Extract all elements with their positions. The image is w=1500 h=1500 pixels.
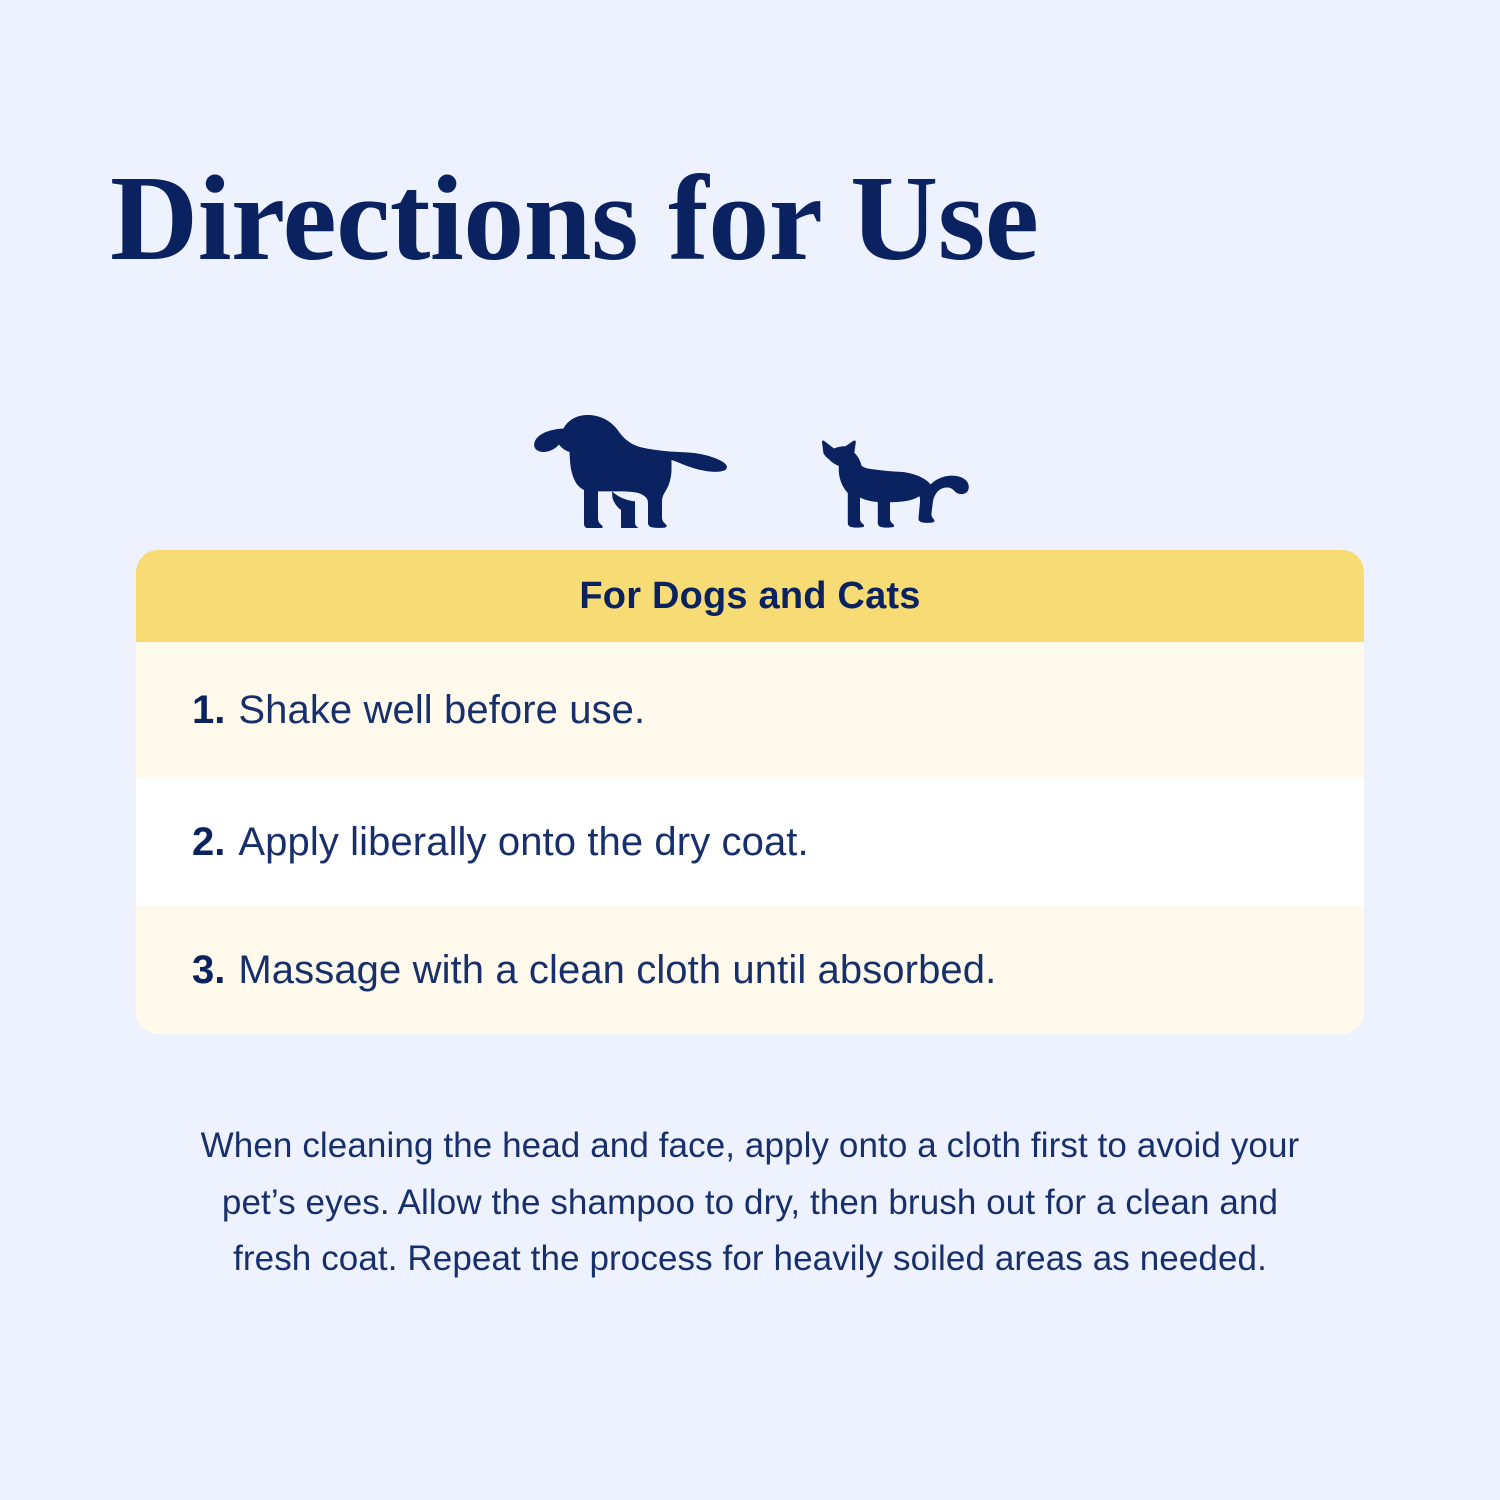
page-title: Directions for Use	[110, 158, 1390, 280]
pet-silhouettes	[0, 388, 1500, 528]
directions-card: For Dogs and Cats 1. Shake well before u…	[136, 550, 1364, 1034]
directions-for-use-panel: Directions for Use For Dogs and Cats 1. …	[0, 0, 1500, 1500]
card-banner: For Dogs and Cats	[136, 550, 1364, 642]
step-row-2: 2. Apply liberally onto the dry coat.	[136, 778, 1364, 906]
step-row-1: 1. Shake well before use.	[136, 642, 1364, 778]
step-text-1: Shake well before use.	[238, 688, 645, 733]
card-banner-label: For Dogs and Cats	[579, 575, 920, 618]
step-row-3: 3. Massage with a clean cloth until abso…	[136, 906, 1364, 1034]
step-number-1: 1.	[192, 688, 225, 733]
cat-silhouette-icon	[806, 440, 969, 528]
step-text-3: Massage with a clean cloth until absorbe…	[238, 948, 996, 993]
dog-silhouette-icon	[532, 406, 728, 528]
step-number-2: 2.	[192, 820, 225, 865]
usage-footnote: When cleaning the head and face, apply o…	[190, 1118, 1310, 1288]
step-number-3: 3.	[192, 948, 225, 993]
step-text-2: Apply liberally onto the dry coat.	[238, 820, 808, 865]
